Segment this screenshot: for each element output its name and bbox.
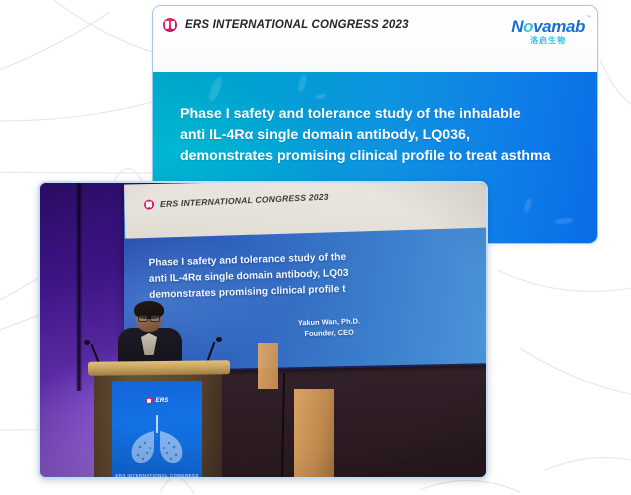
ers-lungs-logo-icon <box>163 18 177 32</box>
slide-title-line-1: Phase I safety and tolerance study of th… <box>180 104 580 125</box>
side-panel-lower <box>294 389 334 479</box>
novamab-logo: Novamab™ 洛启生物 <box>511 18 585 45</box>
decorative-blob <box>555 217 574 225</box>
novamab-wordmark-lead: N <box>511 17 523 36</box>
wall-seam <box>76 183 82 391</box>
author-role: Founder, CEO <box>298 326 360 339</box>
projected-slide-title: Phase I safety and tolerance study of th… <box>148 246 479 304</box>
glasses-icon <box>138 314 160 320</box>
decorative-blob <box>297 73 309 92</box>
ers-brand-lockup: ERS INTERNATIONAL CONGRESS 2023 <box>163 18 409 32</box>
novamab-wordmark-accent: o <box>523 17 533 36</box>
congress-title: ERS INTERNATIONAL CONGRESS 2023 <box>185 19 409 31</box>
ers-lungs-logo-icon <box>146 397 153 404</box>
novamab-wordmark-tail: vamab <box>533 17 585 36</box>
podium-ers-lockup: ERS <box>112 397 202 404</box>
slide-header: ERS INTERNATIONAL CONGRESS 2023 Novamab™… <box>153 6 597 72</box>
side-panel-upper <box>258 343 278 389</box>
slide-title-line-3: demonstrates promising clinical profile … <box>180 146 580 167</box>
trademark-symbol: ™ <box>586 16 591 21</box>
decorative-blob <box>315 93 327 100</box>
microphone-head-left <box>84 340 90 345</box>
decorative-blob <box>523 197 533 212</box>
podium-top-surface <box>88 360 230 375</box>
slide-title-line-2: anti IL-4Rα single domain antibody, LQ03… <box>180 125 580 146</box>
podium-ers-label: ERS <box>156 398 169 404</box>
slide-title: Phase I safety and tolerance study of th… <box>180 104 580 167</box>
microphone-head-right <box>216 337 222 342</box>
ers-lungs-logo-icon <box>144 199 154 209</box>
conference-presentation-photo[interactable]: ERS INTERNATIONAL CONGRESS 2023 Phase I … <box>38 181 488 479</box>
projected-author-block: Yakun Wan, Ph.D. Founder, CEO <box>298 315 361 339</box>
podium-branding-panel: ERS ERS INTERNATIONAL CONGRESS <box>112 381 202 479</box>
decorative-blob <box>206 75 224 102</box>
lungs-graphic-icon <box>126 415 188 465</box>
page-root: ERS INTERNATIONAL CONGRESS 2023 Novamab™… <box>0 0 631 495</box>
novamab-wordmark: Novamab™ <box>511 18 585 35</box>
podium-footer-text: ERS INTERNATIONAL CONGRESS <box>112 473 202 478</box>
novamab-chinese-name: 洛启生物 <box>511 37 585 45</box>
